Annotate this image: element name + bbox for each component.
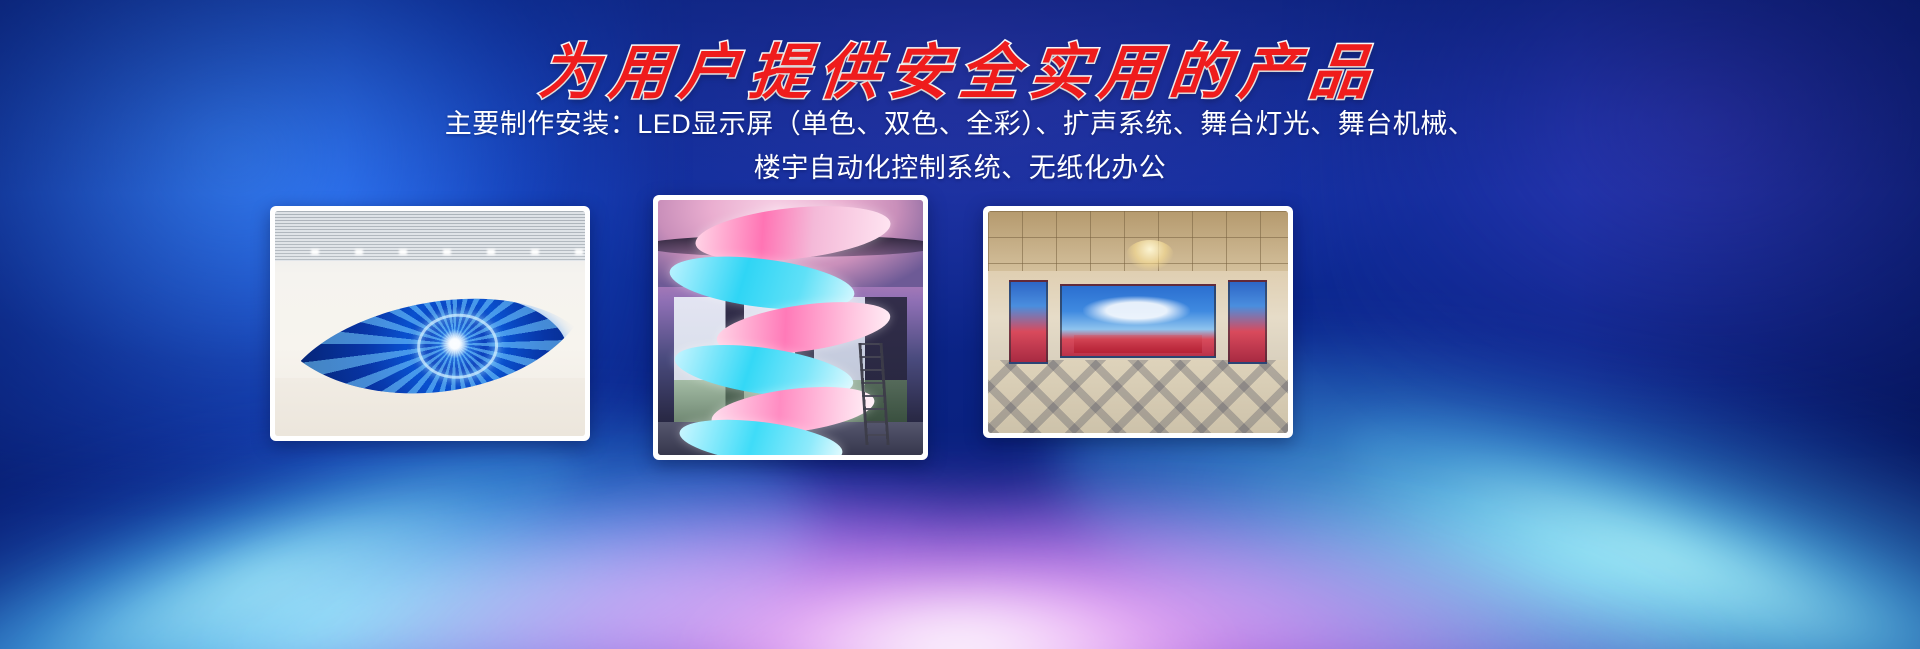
photo-eye-led-screen: [275, 211, 585, 436]
photo3-floor: [988, 360, 1288, 433]
photo1-ceiling: [275, 211, 585, 261]
photo3-right-led-panel: [1228, 280, 1267, 364]
photo-conference-hall-led: [988, 211, 1288, 433]
photo3-chandelier: [1126, 240, 1174, 271]
gallery-card-spiral-led-screen[interactable]: [653, 195, 928, 460]
banner-content: 为用户提供安全实用的产品 主要制作安装：LED显示屏（单色、双色、全彩）、扩声系…: [0, 0, 1920, 649]
banner-photo-gallery: [0, 195, 1920, 470]
photo3-main-led-screen: [1060, 284, 1216, 357]
banner-subtitle-line-2: 楼宇自动化控制系统、无纸化办公: [0, 146, 1920, 185]
banner-subtitle-line-1: 主要制作安装：LED显示屏（单色、双色、全彩）、扩声系统、舞台灯光、舞台机械、: [0, 102, 1920, 141]
gallery-card-eye-led-screen[interactable]: [270, 206, 590, 441]
photo-spiral-led-screen: [658, 200, 923, 455]
photo3-left-led-panel: [1009, 280, 1048, 364]
gallery-card-conference-hall-led[interactable]: [983, 206, 1293, 438]
banner-headline: 为用户提供安全实用的产品: [0, 24, 1920, 111]
promo-banner: 为用户提供安全实用的产品 主要制作安装：LED显示屏（单色、双色、全彩）、扩声系…: [0, 0, 1920, 649]
